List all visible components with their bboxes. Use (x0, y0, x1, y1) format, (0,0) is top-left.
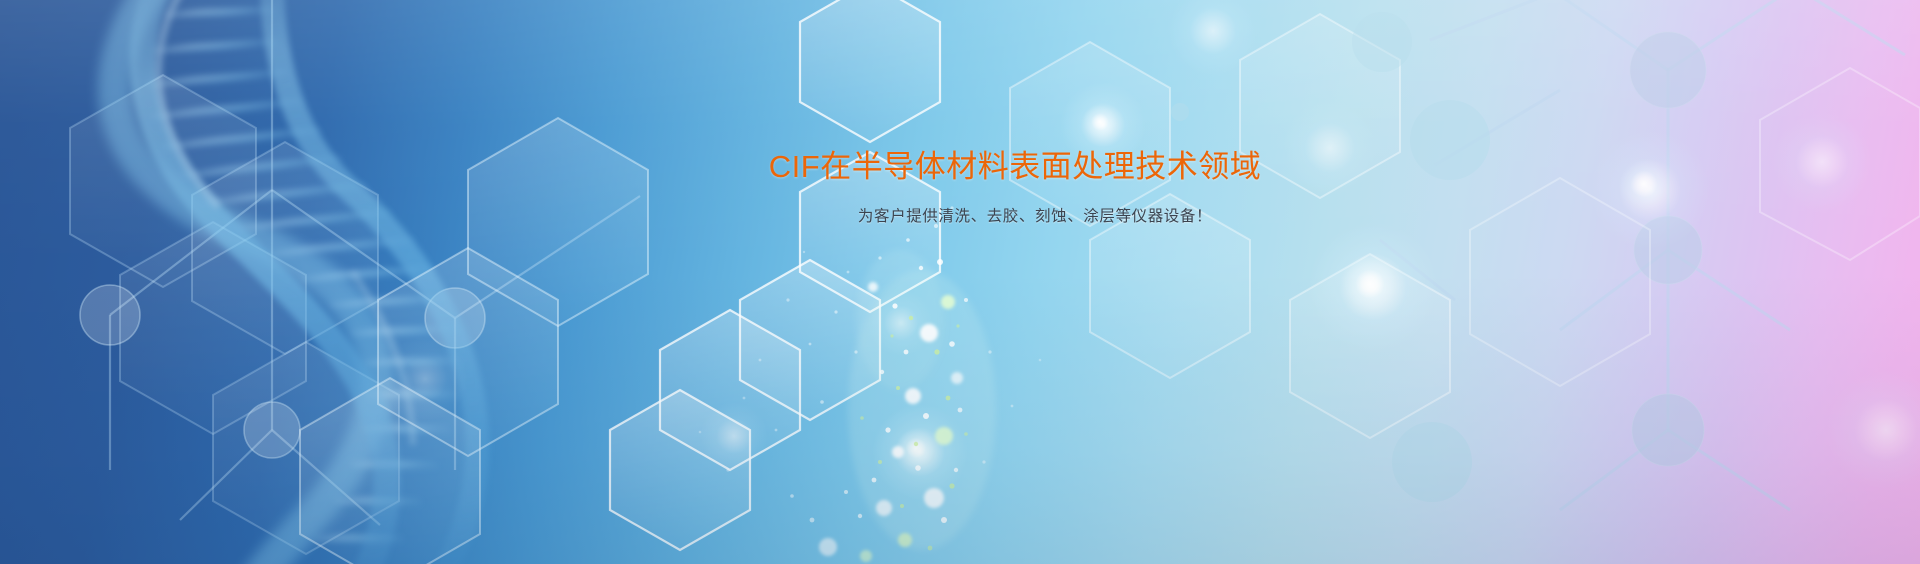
particle-cloud (0, 0, 1920, 564)
hero-banner: CIF在半导体材料表面处理技术领域 为客户提供清洗、去胶、刻蚀、涂层等仪器设备！ (0, 0, 1920, 564)
